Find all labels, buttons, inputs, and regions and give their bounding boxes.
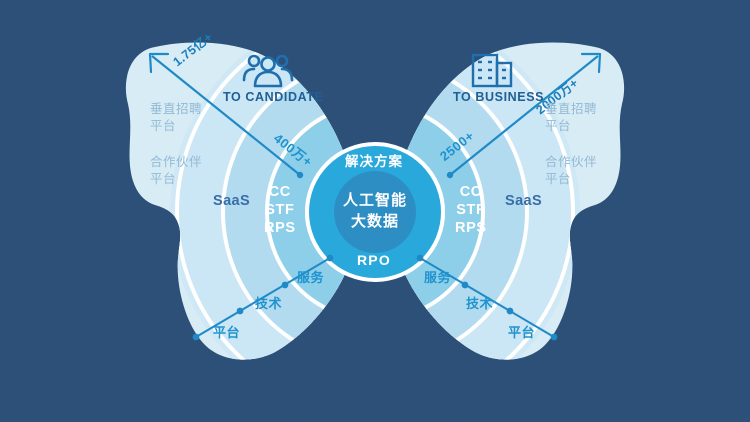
left-outer-label-2: 合作伙伴平台 [150, 154, 202, 188]
right-saas-label: SaaS [505, 193, 542, 209]
left-saas-label: SaaS [213, 193, 250, 209]
core-main-label: 人工智能 大数据 [330, 190, 420, 232]
core-rpo-label: RPO [357, 252, 391, 268]
right-title: TO BUSINESS [453, 90, 544, 104]
left-outer-label-1: 垂直招聘平台 [150, 101, 202, 135]
left-arrow-node [297, 172, 303, 178]
core-main-line-2: 大数据 [351, 213, 399, 230]
right-step-technology: 技术 [466, 293, 493, 312]
left-step-service: 服务 [297, 267, 324, 286]
right-services-line-2: STF [456, 202, 485, 218]
right-outer-label-2: 合作伙伴平台 [545, 154, 597, 188]
left-services-line-3: RPS [264, 220, 296, 236]
right-arrow-node [447, 172, 453, 178]
core-main-line-1: 人工智能 [343, 192, 407, 209]
left-services-line-2: STF [265, 202, 294, 218]
left-step-platform: 平台 [213, 322, 240, 341]
left-step-technology: 技术 [255, 293, 282, 312]
right-services-line-3: RPS [455, 220, 487, 236]
left-outer-label-1-line2: 平台 [150, 119, 176, 133]
right-step-service: 服务 [424, 267, 451, 286]
left-outer-label-1-line1: 垂直招聘 [150, 102, 202, 116]
right-outer-label-1: 垂直招聘 平台垂直招聘平台 [545, 101, 597, 135]
right-services-line-1: CC [460, 184, 482, 200]
left-title: TO CANDIDATE [223, 90, 324, 104]
right-services-label: CC STF RPS [455, 183, 487, 237]
right-step-platform: 平台 [508, 322, 535, 341]
left-outer-label-2-line1: 合作伙伴 [150, 155, 202, 169]
left-outer-label-2-line2: 平台 [150, 172, 176, 186]
left-services-line-1: CC [269, 184, 291, 200]
butterfly-diagram-canvas: 1.75亿+ TO CANDIDATE 400万+ 垂直招聘平台 合作伙伴平台 … [0, 0, 750, 422]
left-services-label: CC STF RPS [264, 183, 296, 237]
core-solution-label: 解决方案 [345, 150, 403, 170]
